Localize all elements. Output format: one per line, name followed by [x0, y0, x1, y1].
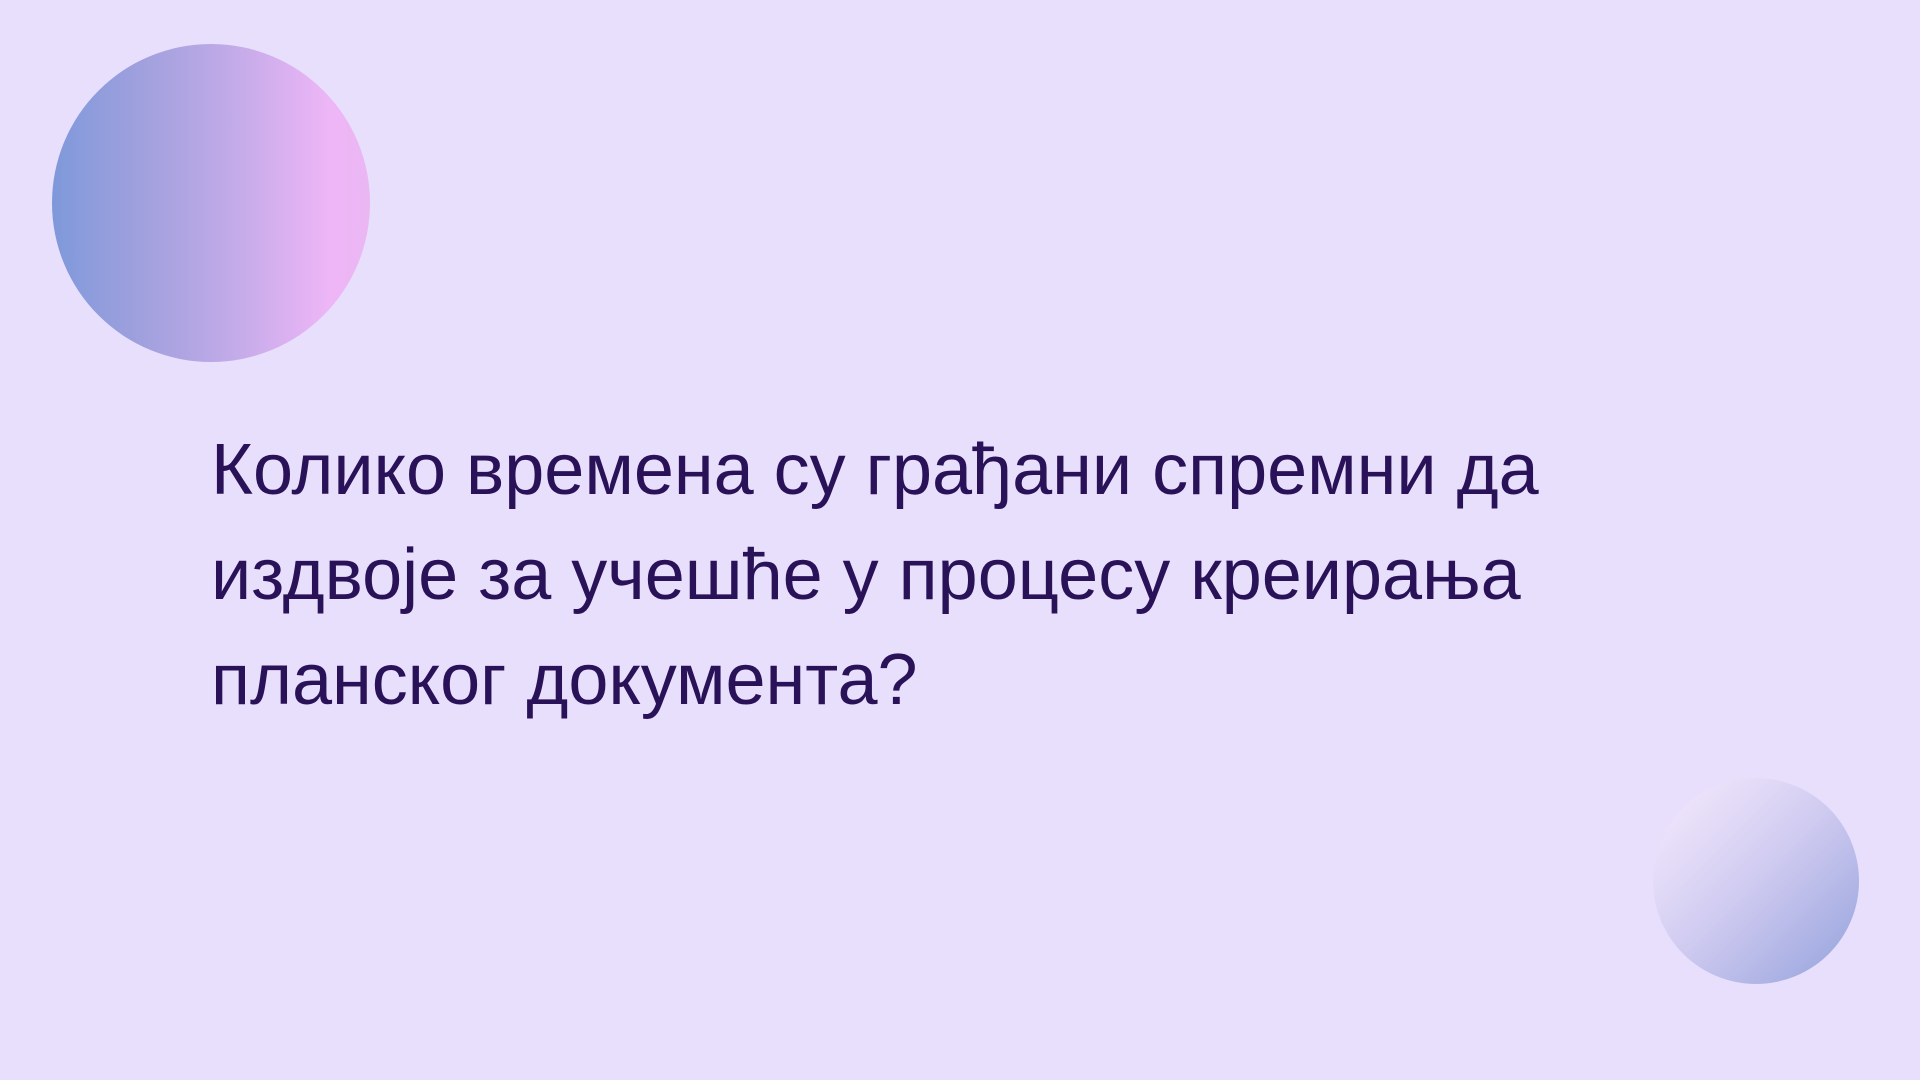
decorative-gradient-circle-bottom-right — [1653, 778, 1859, 984]
slide-canvas: Колико времена су грађани спремни да изд… — [0, 0, 1920, 1080]
decorative-gradient-circle-top-left — [52, 44, 370, 362]
slide-headline: Колико времена су грађани спремни да изд… — [211, 418, 1711, 733]
